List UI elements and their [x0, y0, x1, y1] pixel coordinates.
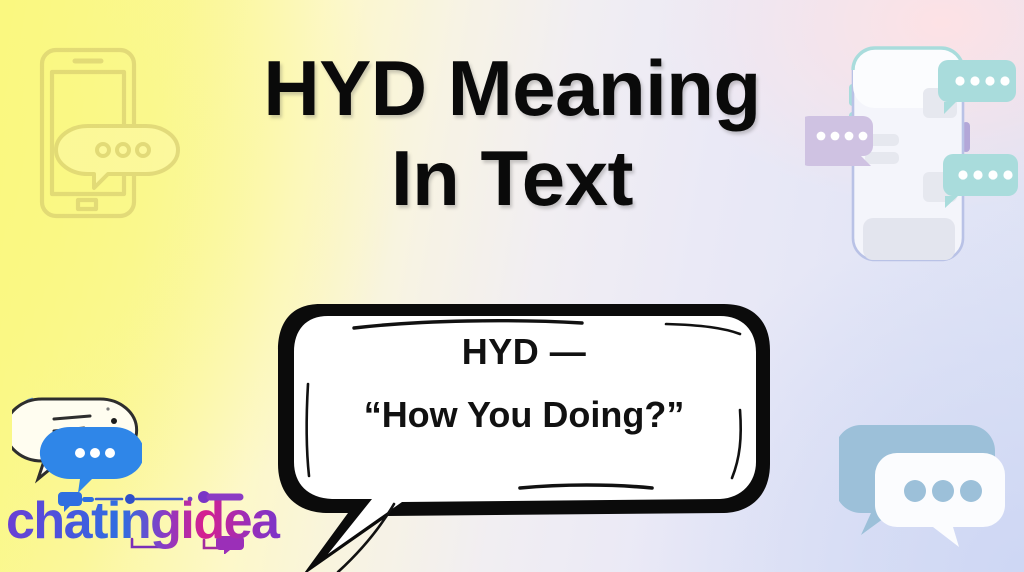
outline-phone-icon — [28, 38, 188, 228]
speech-bubble-shape — [262, 292, 782, 572]
brand-logo[interactable]: chatingidea — [4, 383, 324, 558]
phone-right-illustration — [805, 26, 1020, 271]
bubble-lavender-icon — [805, 116, 873, 166]
logo-wordmark-text: chatingidea — [6, 492, 281, 550]
logo-wordmark-svg: chatingidea — [4, 484, 324, 554]
bubble-teal-top-icon — [938, 60, 1016, 114]
logo-mark-svg — [12, 383, 142, 495]
bubbles-bottom-right-illustration — [839, 413, 1014, 558]
overlapping-chat-bubbles-icon — [839, 413, 1014, 558]
poster-canvas: HYD Meaning In Text HYD — “How You Doing… — [0, 0, 1024, 572]
logo-wordmark: chatingidea — [4, 484, 324, 554]
speech-bubble — [262, 292, 782, 572]
phone-left-bubble-icon — [56, 126, 178, 188]
pastel-phone-icon — [805, 26, 1020, 271]
logo-chat-bubbles-icon — [12, 383, 142, 495]
phone-left-illustration — [28, 38, 188, 228]
